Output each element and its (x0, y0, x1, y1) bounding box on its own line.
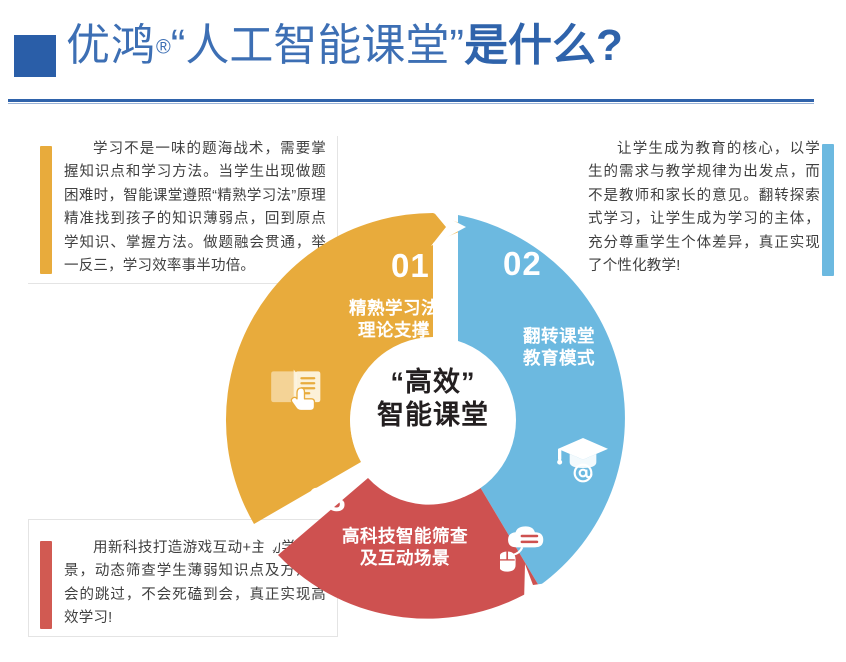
center-line-2: 智能课堂 (336, 399, 530, 432)
page-header: 优鸿®“人工智能课堂”是什么? (0, 0, 846, 108)
open-book-hand-icon (270, 363, 324, 413)
graduation-cap-at-icon (556, 433, 610, 483)
mouse-cloud-icon (500, 523, 558, 575)
blue-accent-bar (822, 144, 834, 276)
segment-label-03: 高科技智能筛查 及互动场景 (310, 525, 500, 570)
title-question: 是什么? (464, 21, 623, 70)
segment-number-02: 02 (503, 247, 542, 280)
square-bullet-icon (14, 35, 56, 77)
header-divider-thin (8, 103, 814, 104)
center-line-1: “高效” (391, 367, 476, 397)
red-accent-bar (40, 541, 52, 629)
brand-name: 优鸿 (66, 21, 156, 70)
segment-number-03: 03 (308, 483, 347, 516)
segment-number-01: 01 (391, 249, 430, 282)
segment-label-01: 精熟学习法 理论支撑 (314, 297, 474, 342)
quoted-term: “人工智能课堂” (171, 21, 464, 70)
registered-mark-icon: ® (156, 37, 171, 59)
orange-accent-bar (40, 146, 52, 274)
header-divider (8, 99, 814, 102)
three-segment-donut-diagram: 01 精熟学习法 理论支撑 02 翻转课堂 教育模式 03 高科技智能筛查 (218, 205, 648, 635)
page-title: 优鸿®“人工智能课堂”是什么? (66, 24, 623, 68)
segment-label-02: 翻转课堂 教育模式 (495, 325, 623, 370)
donut-center-label: “高效” 智能课堂 (336, 366, 530, 432)
